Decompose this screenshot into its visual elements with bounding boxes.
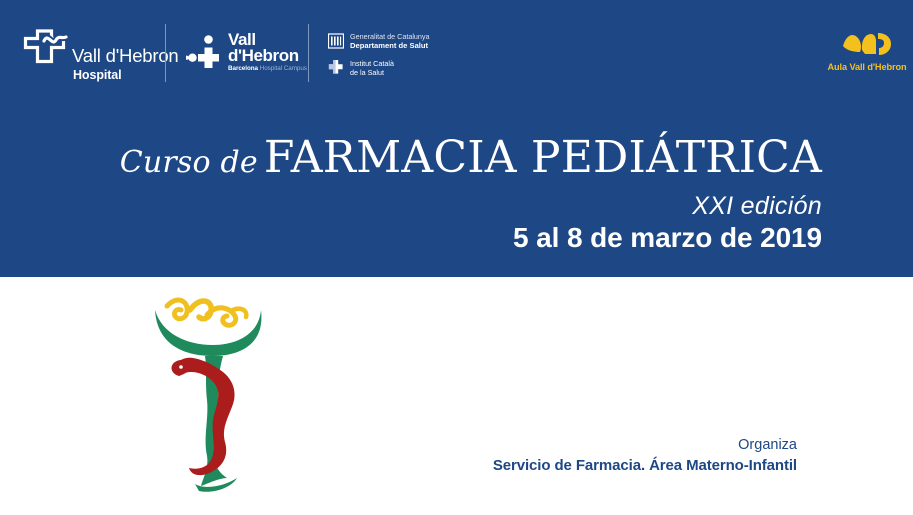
logo-strip: Vall d'Hebron Hospital Vall d'Hebron Bar… bbox=[0, 0, 913, 105]
logo-vall-hebron-hospital: Vall d'Hebron Hospital bbox=[18, 28, 158, 82]
logo-divider-2 bbox=[308, 24, 309, 82]
organizer-block: Organiza Servicio de Farmacia. Área Mate… bbox=[0, 437, 797, 474]
ics-label-bottom: de la Salut bbox=[350, 68, 384, 77]
title-prefix: Curso de bbox=[120, 145, 258, 180]
generalitat-bars-icon bbox=[328, 33, 344, 54]
poster-canvas: Vall d'Hebron Hospital Vall d'Hebron Bar… bbox=[0, 0, 913, 515]
logo-divider-1 bbox=[165, 24, 166, 82]
title-edition: XXI edición bbox=[0, 192, 822, 221]
aula-wave-icon bbox=[841, 28, 893, 65]
organizer-label: Organiza bbox=[0, 437, 797, 453]
logo-aula-vall-hebron: Aula Vall d'Hebron bbox=[823, 28, 911, 80]
logo-tagline-bold: Barcelona bbox=[228, 65, 258, 72]
logo-label-name: Vall d'Hebron bbox=[72, 45, 179, 67]
gencat-label-bottom: Departament de Salut bbox=[350, 41, 428, 50]
logo-tagline-light: Hospital Campus bbox=[258, 65, 307, 72]
ics-cross-icon bbox=[328, 59, 344, 80]
title-main: FARMACIA PEDIÁTRICA bbox=[264, 132, 822, 183]
logo-generalitat-catalunya: Generalitat de Catalunya Departament de … bbox=[328, 32, 448, 80]
logo-label-line2: d'Hebron bbox=[228, 46, 299, 66]
logo-label-subtitle: Hospital bbox=[73, 68, 122, 82]
organizer-value: Servicio de Farmacia. Área Materno-Infan… bbox=[0, 457, 797, 474]
aula-logo-label: Aula Vall d'Hebron bbox=[823, 62, 911, 72]
gencat-label-top: Generalitat de Catalunya bbox=[350, 32, 430, 41]
logo-label-tagline: Barcelona Hospital Campus bbox=[228, 65, 307, 72]
page-title: Curso deFARMACIA PEDIÁTRICA bbox=[0, 132, 822, 183]
logo-vall-hebron-campus: Vall d'Hebron Barcelona Hospital Campus bbox=[186, 30, 298, 80]
title-dates: 5 al 8 de marzo de 2019 bbox=[0, 222, 822, 254]
hospital-cross-pulse-icon bbox=[18, 28, 70, 85]
campus-dots-cross-icon bbox=[186, 34, 226, 79]
ics-label-top: Institut Català bbox=[350, 59, 394, 68]
